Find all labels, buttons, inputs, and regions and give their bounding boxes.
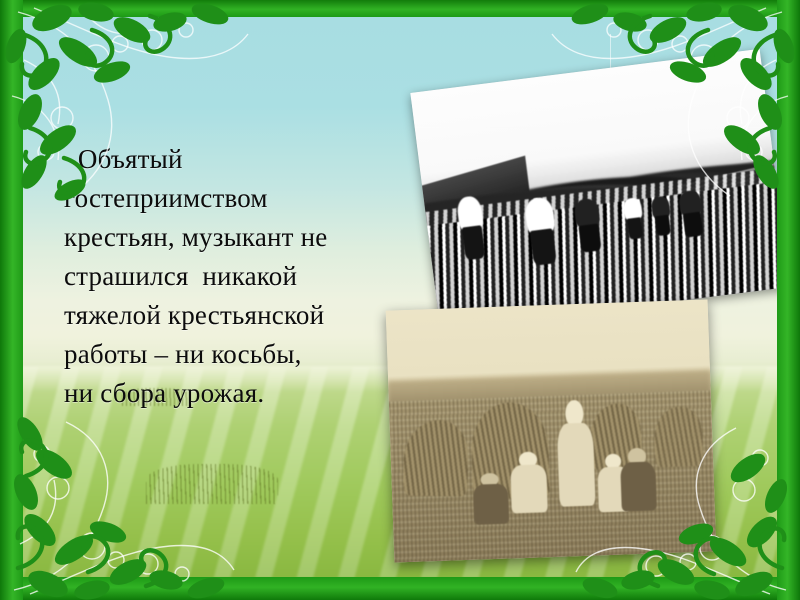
caption-line: гостеприимством: [64, 179, 394, 218]
figure-standing-woman: [556, 399, 595, 506]
photo-peasants-field[interactable]: [410, 49, 789, 331]
frame-border-bottom: [0, 577, 800, 600]
slide-caption: Объятый гостеприимством крестьян, музыка…: [64, 140, 394, 413]
photo-harvest-rest-image: [386, 299, 717, 562]
caption-line: крестьян, музыкант не: [64, 218, 394, 257]
figure-seated-peasant: [510, 451, 547, 513]
figure-seated-peasant: [472, 473, 509, 525]
caption-line: Объятый: [64, 140, 394, 179]
presentation-slide: Объятый гостеприимством крестьян, музыка…: [0, 0, 800, 600]
caption-line: работы – ни косьбы,: [64, 335, 394, 374]
figure-seated-peasant: [619, 448, 657, 512]
photo-harvest-rest[interactable]: [386, 299, 717, 562]
caption-line: страшился никакой: [64, 257, 394, 296]
grass-tuft: [146, 464, 278, 504]
frame-border-right: [777, 0, 800, 600]
frame-border-left: [0, 0, 23, 600]
frame-border-top: [0, 0, 800, 17]
caption-line: ни сбора урожая.: [64, 374, 394, 413]
caption-line: тяжелой крестьянской: [64, 296, 394, 335]
photo-peasants-field-image: [410, 49, 789, 331]
